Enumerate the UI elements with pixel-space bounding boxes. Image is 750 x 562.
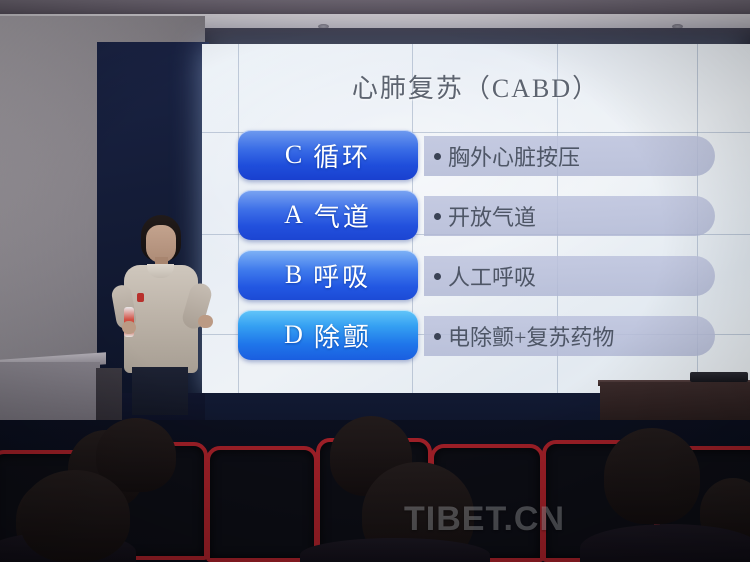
bullet-dot-icon <box>434 273 441 280</box>
chip-word: 循环 <box>313 137 371 174</box>
presenter-legs <box>132 367 188 415</box>
bullet-dot-icon <box>434 213 441 220</box>
presenter-badge-icon <box>137 293 144 302</box>
projection-screen: 心肺复苏（CABD） C 循环 胸外心脏按压 A 气道 开放气道 <box>202 44 750 395</box>
bullet-text: 胸外心脏按压 <box>448 140 580 172</box>
auditorium-seat <box>206 446 318 562</box>
watermark: TIBET.CN <box>404 500 565 539</box>
slide-row: A 气道 开放气道 <box>202 190 750 242</box>
slide-title: 心肺复苏（CABD） <box>202 68 750 105</box>
screenshot-root: 心肺复苏（CABD） C 循环 胸外心脏按压 A 气道 开放气道 <box>0 0 750 562</box>
presenter-left-hand <box>122 321 136 334</box>
chip-c: C 循环 <box>238 130 418 180</box>
chip-word: 除颤 <box>314 317 372 354</box>
bullet-text: 电除颤+复苏药物 <box>448 320 614 352</box>
row-bullet: 人工呼吸 <box>434 258 536 294</box>
chip-a: A 气道 <box>238 190 418 240</box>
laptop-icon <box>690 372 748 382</box>
chip-letter: D <box>284 320 306 350</box>
slide-row: C 循环 胸外心脏按压 <box>202 130 750 182</box>
row-bullet: 电除颤+复苏药物 <box>434 318 614 354</box>
slide-row: D 除颤 电除颤+复苏药物 <box>202 310 750 362</box>
bullet-dot-icon <box>434 153 441 160</box>
chip-letter: A <box>284 200 306 230</box>
bullet-text: 人工呼吸 <box>448 260 536 292</box>
slide-row: B 呼吸 人工呼吸 <box>202 250 750 302</box>
audience-head <box>604 428 700 524</box>
bullet-text: 开放气道 <box>448 200 536 232</box>
chip-b: B 呼吸 <box>238 250 418 300</box>
presenter <box>110 215 210 400</box>
chip-word: 气道 <box>314 197 372 234</box>
bullet-dot-icon <box>434 333 441 340</box>
row-bullet: 开放气道 <box>434 198 536 234</box>
audience-head <box>20 470 130 562</box>
chip-word: 呼吸 <box>313 257 371 294</box>
chip-letter: C <box>285 140 305 170</box>
presenter-right-hand <box>198 315 213 328</box>
row-bullet: 胸外心脏按压 <box>434 138 580 174</box>
chip-letter: B <box>285 260 305 290</box>
chip-d: D 除颤 <box>238 310 418 360</box>
